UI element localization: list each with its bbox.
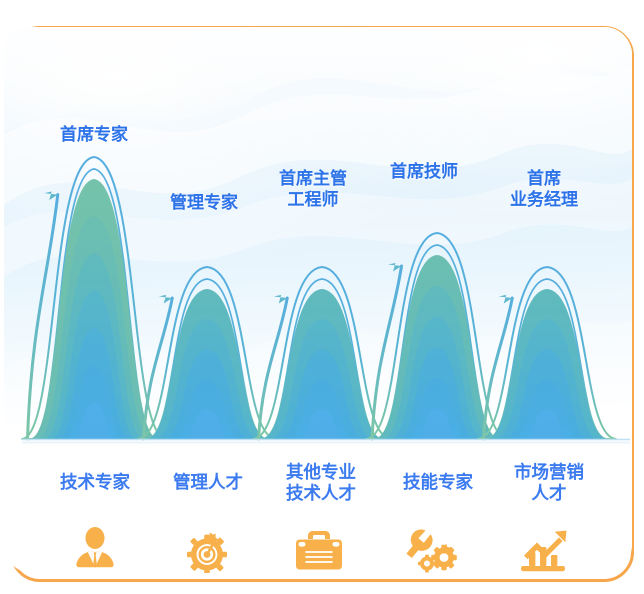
growth-chart-icon: [515, 525, 571, 573]
bottom-label-technical-expert: 技术专家: [34, 472, 156, 493]
bottom-label-management-talent: 管理人才: [148, 472, 268, 493]
bottom-label-skill-expert: 技能专家: [377, 472, 499, 493]
wrench-gears-icon: [403, 525, 459, 573]
businessman-icon: [67, 525, 123, 573]
infographic-root: 首席专家 管理专家 首席主管 工程师 首席技师 首席 业务经理 技术专家 管理人…: [0, 0, 644, 594]
career-path-curves-chart: [4, 53, 632, 453]
top-label-chief-expert: 首席专家: [32, 125, 156, 146]
top-label-chief-business-manager: 首席 业务经理: [480, 169, 608, 210]
top-label-chief-supervising-engineer: 首席主管 工程师: [253, 169, 373, 210]
top-label-chief-technician: 首席技师: [365, 162, 483, 183]
content-card: 首席专家 管理专家 首席主管 工程师 首席技师 首席 业务经理 技术专家 管理人…: [4, 27, 632, 573]
bottom-label-other-professional-technical-talent: 其他专业 技术人才: [260, 462, 382, 504]
growth-arrow-head-icon: [44, 192, 58, 201]
bottom-label-marketing-talent: 市场营销 人才: [488, 462, 610, 504]
top-label-management-expert: 管理专家: [144, 193, 264, 214]
gear-target-icon: [179, 525, 235, 573]
briefcase-icon: [291, 525, 347, 573]
